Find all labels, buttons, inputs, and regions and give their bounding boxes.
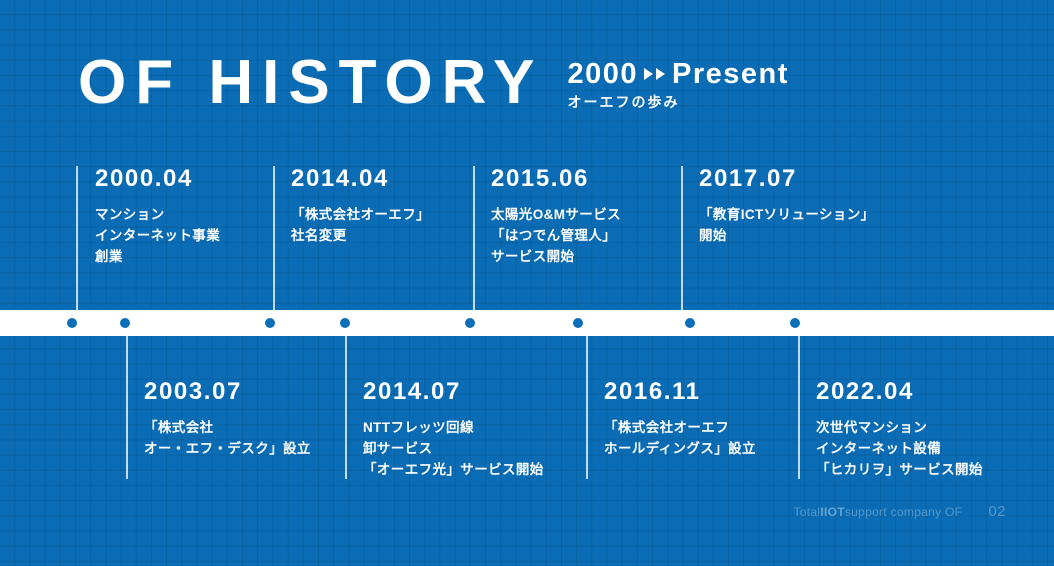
event-description: 太陽光O&Mサービス「はつでん管理人」サービス開始 bbox=[491, 204, 621, 267]
event-description-line: 社名変更 bbox=[291, 225, 430, 246]
timeline-bar bbox=[0, 310, 1054, 336]
event-description: 「株式会社オー・エフ・デスク」設立 bbox=[144, 417, 311, 459]
event-description-line: 開始 bbox=[699, 225, 875, 246]
event-description-line: 太陽光O&Mサービス bbox=[491, 204, 621, 225]
event-description-line: 卸サービス bbox=[363, 438, 544, 459]
footer-brand-prefix: Total bbox=[793, 505, 820, 519]
connector-line bbox=[473, 166, 475, 312]
timeline-dot bbox=[120, 318, 130, 328]
footer-brand-suffix: support company OF bbox=[845, 505, 962, 519]
event-description: NTTフレッツ回線卸サービス「オーエフ光」サービス開始 bbox=[363, 417, 544, 480]
event-description: マンションインターネット事業創業 bbox=[95, 204, 220, 267]
timeline-event-below-1: 2014.07NTTフレッツ回線卸サービス「オーエフ光」サービス開始 bbox=[363, 379, 544, 480]
page-title: OF HISTORY bbox=[78, 52, 543, 114]
timeline-dot bbox=[67, 318, 77, 328]
connector-line bbox=[345, 334, 347, 479]
event-date: 2015.06 bbox=[491, 166, 621, 192]
event-description-line: インターネット事業 bbox=[95, 225, 220, 246]
event-date: 2003.07 bbox=[144, 379, 311, 405]
event-description-line: サービス開始 bbox=[491, 246, 621, 267]
connector-line bbox=[273, 166, 275, 312]
double-arrow-right-icon bbox=[644, 68, 665, 80]
footer-brand-bold: IIOT bbox=[820, 505, 845, 519]
event-description: 「株式会社オーエフ」社名変更 bbox=[291, 204, 430, 246]
connector-line bbox=[681, 166, 683, 312]
event-description-line: 次世代マンション bbox=[816, 417, 983, 438]
event-description-line: 「教育ICTソリューション」 bbox=[699, 204, 875, 225]
event-description: 「株式会社オーエフホールディングス」設立 bbox=[604, 417, 756, 459]
event-description-line: ホールディングス」設立 bbox=[604, 438, 756, 459]
timeline-dot bbox=[685, 318, 695, 328]
footer-brand-text: TotalIIOTsupport company OF bbox=[793, 505, 962, 519]
timeline-dot bbox=[465, 318, 475, 328]
connector-line bbox=[798, 334, 800, 479]
event-date: 2000.04 bbox=[95, 166, 220, 192]
timeline-event-above-3: 2017.07「教育ICTソリューション」開始 bbox=[699, 166, 875, 246]
connector-line bbox=[126, 334, 128, 479]
timeline-event-below-2: 2016.11「株式会社オーエフホールディングス」設立 bbox=[604, 379, 756, 459]
event-description-line: 「オーエフ光」サービス開始 bbox=[363, 459, 544, 480]
timeline-dot bbox=[573, 318, 583, 328]
event-description-line: 「株式会社 bbox=[144, 417, 311, 438]
timeline-event-below-0: 2003.07「株式会社オー・エフ・デスク」設立 bbox=[144, 379, 311, 459]
event-description: 「教育ICTソリューション」開始 bbox=[699, 204, 875, 246]
timeline-dot bbox=[340, 318, 350, 328]
title-side-group: 2000 Present オーエフの歩み bbox=[567, 59, 788, 114]
event-description-line: オー・エフ・デスク」設立 bbox=[144, 438, 311, 459]
event-description: 次世代マンションインターネット設備「ヒカリヲ」サービス開始 bbox=[816, 417, 983, 480]
timeline-event-above-2: 2015.06太陽光O&Mサービス「はつでん管理人」サービス開始 bbox=[491, 166, 621, 267]
event-description-line: 「はつでん管理人」 bbox=[491, 225, 621, 246]
timeline-event-above-0: 2000.04マンションインターネット事業創業 bbox=[95, 166, 220, 267]
event-description-line: NTTフレッツ回線 bbox=[363, 417, 544, 438]
slide-header: OF HISTORY 2000 Present オーエフの歩み bbox=[78, 52, 789, 114]
event-date: 2014.07 bbox=[363, 379, 544, 405]
year-range: 2000 Present bbox=[567, 59, 788, 89]
event-date: 2017.07 bbox=[699, 166, 875, 192]
range-end-label: Present bbox=[672, 59, 789, 89]
connector-line bbox=[76, 166, 78, 312]
event-description-line: インターネット設備 bbox=[816, 438, 983, 459]
timeline-event-above-1: 2014.04「株式会社オーエフ」社名変更 bbox=[291, 166, 430, 246]
event-date: 2016.11 bbox=[604, 379, 756, 405]
page-number: 02 bbox=[988, 505, 1006, 519]
range-start-year: 2000 bbox=[567, 59, 638, 89]
event-description-line: 創業 bbox=[95, 246, 220, 267]
event-description-line: 「株式会社オーエフ bbox=[604, 417, 756, 438]
event-description-line: 「ヒカリヲ」サービス開始 bbox=[816, 459, 983, 480]
event-date: 2022.04 bbox=[816, 379, 983, 405]
event-date: 2014.04 bbox=[291, 166, 430, 192]
timeline-dot bbox=[790, 318, 800, 328]
subtitle-japanese: オーエフの歩み bbox=[567, 94, 788, 110]
event-description-line: 「株式会社オーエフ」 bbox=[291, 204, 430, 225]
history-timeline-slide: OF HISTORY 2000 Present オーエフの歩み 2000.04マ… bbox=[0, 0, 1054, 566]
timeline-dot bbox=[265, 318, 275, 328]
connector-line bbox=[586, 334, 588, 479]
slide-footer: TotalIIOTsupport company OF 02 bbox=[793, 505, 1006, 519]
timeline-event-below-3: 2022.04次世代マンションインターネット設備「ヒカリヲ」サービス開始 bbox=[816, 379, 983, 480]
event-description-line: マンション bbox=[95, 204, 220, 225]
